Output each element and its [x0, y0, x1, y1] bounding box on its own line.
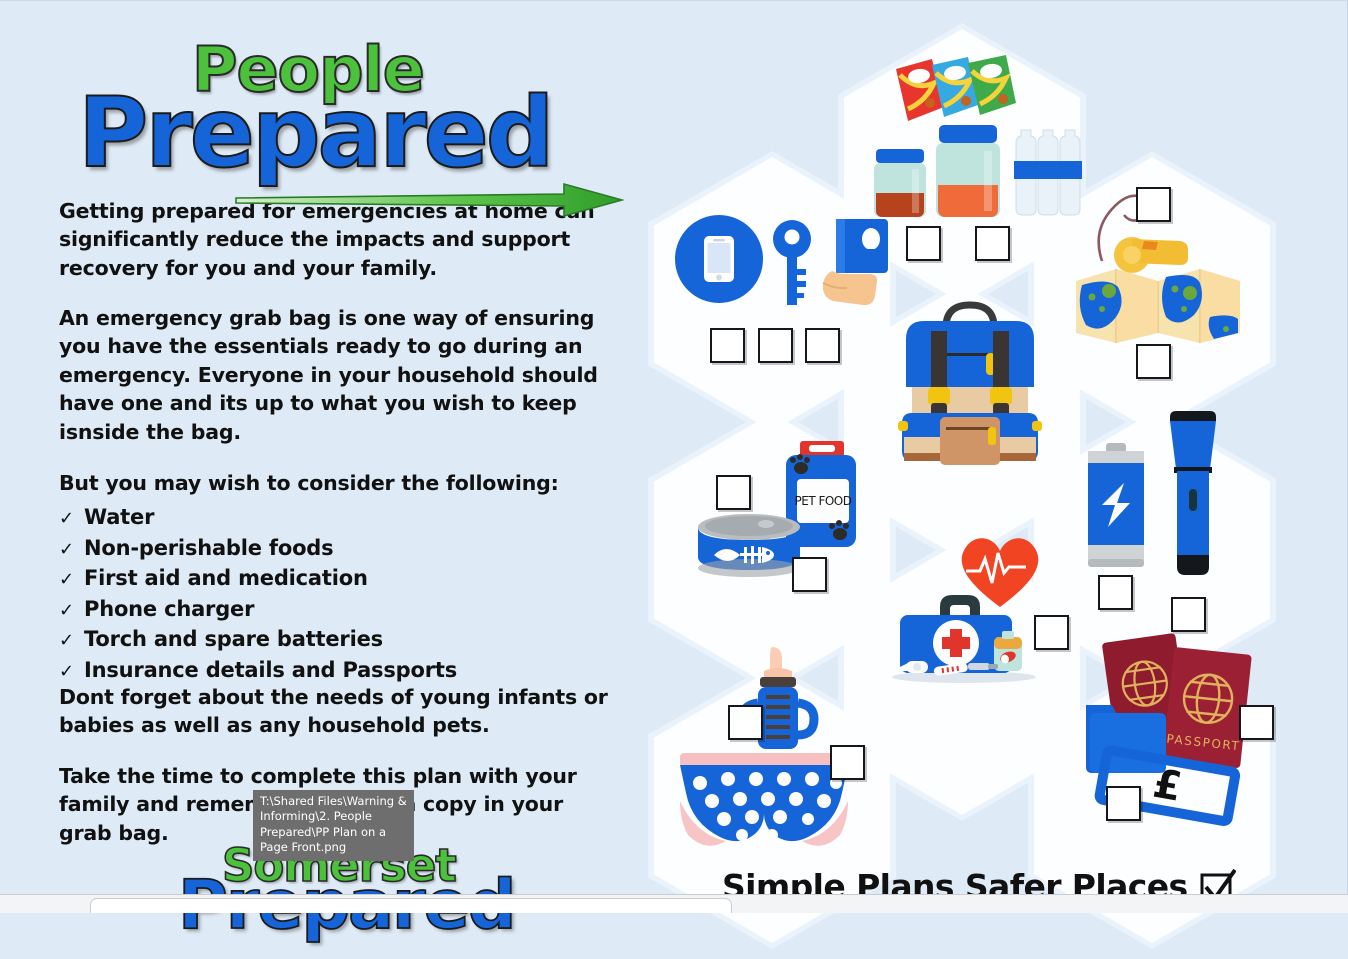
checkbox[interactable] — [716, 475, 751, 510]
list-item: ✓Non-perishable foods — [59, 534, 619, 565]
essentials-checklist: ✓Water ✓Non-perishable foods ✓First aid … — [59, 503, 619, 687]
checkbox[interactable] — [728, 705, 763, 740]
list-item: ✓Phone charger — [59, 595, 619, 626]
first-aid-kit-icon — [890, 589, 1038, 683]
checkbox[interactable] — [710, 328, 745, 363]
key-icon — [770, 219, 814, 309]
logo-word-people: People — [192, 33, 424, 106]
checkbox[interactable] — [1098, 575, 1133, 610]
snack-bags-icon — [888, 51, 1028, 131]
checkbox[interactable] — [805, 328, 840, 363]
list-item: ✓First aid and medication — [59, 564, 619, 595]
checkbox[interactable] — [830, 745, 865, 780]
checkbox[interactable] — [906, 226, 941, 261]
svg-text:PET FOOD: PET FOOD — [795, 494, 852, 508]
list-item: ✓Water — [59, 503, 619, 534]
checkbox[interactable] — [1136, 344, 1171, 379]
battery-icon — [1084, 443, 1148, 569]
check-icon: ✓ — [59, 627, 73, 656]
checkbox[interactable] — [1239, 705, 1274, 740]
checkbox[interactable] — [1034, 615, 1069, 650]
torch-icon — [1162, 409, 1224, 577]
backpack-icon — [890, 291, 1050, 471]
list-item-label: Water — [84, 503, 154, 532]
list-item-label: Torch and spare batteries — [84, 625, 383, 654]
checkbox[interactable] — [975, 226, 1010, 261]
checkbox[interactable] — [1106, 786, 1141, 821]
green-arrow-icon — [234, 181, 624, 219]
checkbox[interactable] — [758, 328, 793, 363]
poster-page: Prepared People Getting prepared for eme… — [0, 0, 1348, 913]
grab-bag-hex-illustration: PET FOOD — [640, 1, 1348, 914]
list-item-label: Non-perishable foods — [84, 534, 333, 563]
food-jar-small-icon — [872, 149, 928, 217]
nappy-icon — [676, 753, 852, 847]
check-icon: ✓ — [59, 505, 73, 534]
check-icon: ✓ — [59, 536, 73, 565]
list-item-label: Phone charger — [84, 595, 254, 624]
list-item: ✓Torch and spare batteries — [59, 625, 619, 656]
bottom-panel-card[interactable] — [90, 898, 732, 913]
checklist-heading: But you may wish to consider the followi… — [59, 469, 619, 497]
file-path-tooltip: T:\Shared Files\Warning & Informing\2. P… — [253, 790, 414, 861]
list-item-label: Insurance details and Passports — [84, 656, 457, 685]
list-item-label: First aid and medication — [84, 564, 368, 593]
checkbox[interactable] — [1171, 597, 1206, 632]
check-icon: ✓ — [59, 566, 73, 595]
check-icon: ✓ — [59, 597, 73, 626]
food-jar-large-icon — [934, 125, 1002, 217]
intro-paragraph-2: An emergency grab bag is one way of ensu… — [59, 304, 619, 446]
people-prepared-logo: Prepared People — [72, 37, 572, 197]
mobile-phone-icon — [674, 214, 764, 304]
checkbox[interactable] — [792, 557, 827, 592]
folded-map-icon — [1074, 263, 1242, 347]
infants-paragraph: Dont forget about the needs of young inf… — [59, 683, 619, 740]
left-content-column: Prepared People Getting prepared for eme… — [0, 1, 640, 914]
water-bottles-icon — [1012, 125, 1084, 217]
list-item: ✓Insurance details and Passports — [59, 656, 619, 687]
fish-tin-icon — [696, 513, 802, 579]
checkbox[interactable] — [1136, 187, 1171, 222]
